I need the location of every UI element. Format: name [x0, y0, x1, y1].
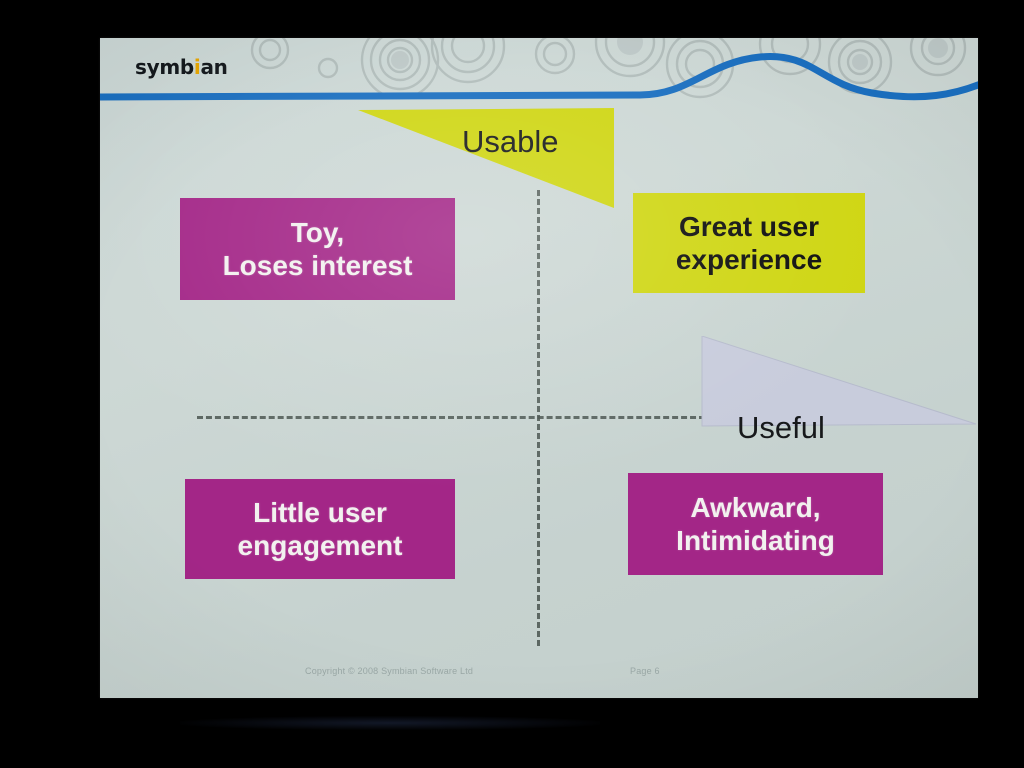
- quadrant-box-bottom-left: Little user engagement: [185, 479, 455, 579]
- quadrant-box-top-right: Great user experience: [633, 193, 865, 293]
- footer-page-number: Page 6: [630, 666, 660, 676]
- quadrant-horizontal-axis: [197, 416, 705, 419]
- brand-text-before: symb: [135, 55, 194, 79]
- blue-swoosh-graphic: [100, 38, 978, 112]
- projector-underglow: [180, 716, 600, 730]
- quadrant-box-top-right-line-1: Great user: [676, 210, 822, 243]
- quadrant-box-bottom-left-line-1: Little user: [238, 496, 403, 529]
- quadrant-box-top-right-line-2: experience: [676, 243, 822, 276]
- quadrant-box-top-left-line-1: Toy,: [223, 216, 413, 249]
- symbian-logo: symbian: [135, 55, 228, 79]
- quadrant-box-bottom-right: Awkward, Intimidating: [628, 473, 883, 575]
- slide-footer: Copyright © 2008 Symbian Software Ltd Pa…: [100, 666, 978, 682]
- quadrant-box-top-left: Toy, Loses interest: [180, 198, 455, 300]
- usable-label: Usable: [462, 124, 559, 160]
- quadrant-box-bottom-right-line-2: Intimidating: [676, 524, 835, 557]
- quadrant-box-top-left-line-2: Loses interest: [223, 249, 413, 282]
- quadrant-box-bottom-left-line-2: engagement: [238, 529, 403, 562]
- quadrant-box-bottom-right-line-1: Awkward,: [676, 491, 835, 524]
- quadrant-vertical-axis: [537, 190, 540, 646]
- screenshot-root: symbian Usable Useful Toy, Loses interes…: [0, 0, 1024, 768]
- footer-copyright: Copyright © 2008 Symbian Software Ltd: [305, 666, 473, 676]
- slide-header-band: symbian: [100, 38, 978, 112]
- presentation-slide: symbian Usable Useful Toy, Loses interes…: [100, 38, 978, 698]
- brand-text-after: an: [200, 55, 227, 79]
- useful-label: Useful: [737, 410, 825, 446]
